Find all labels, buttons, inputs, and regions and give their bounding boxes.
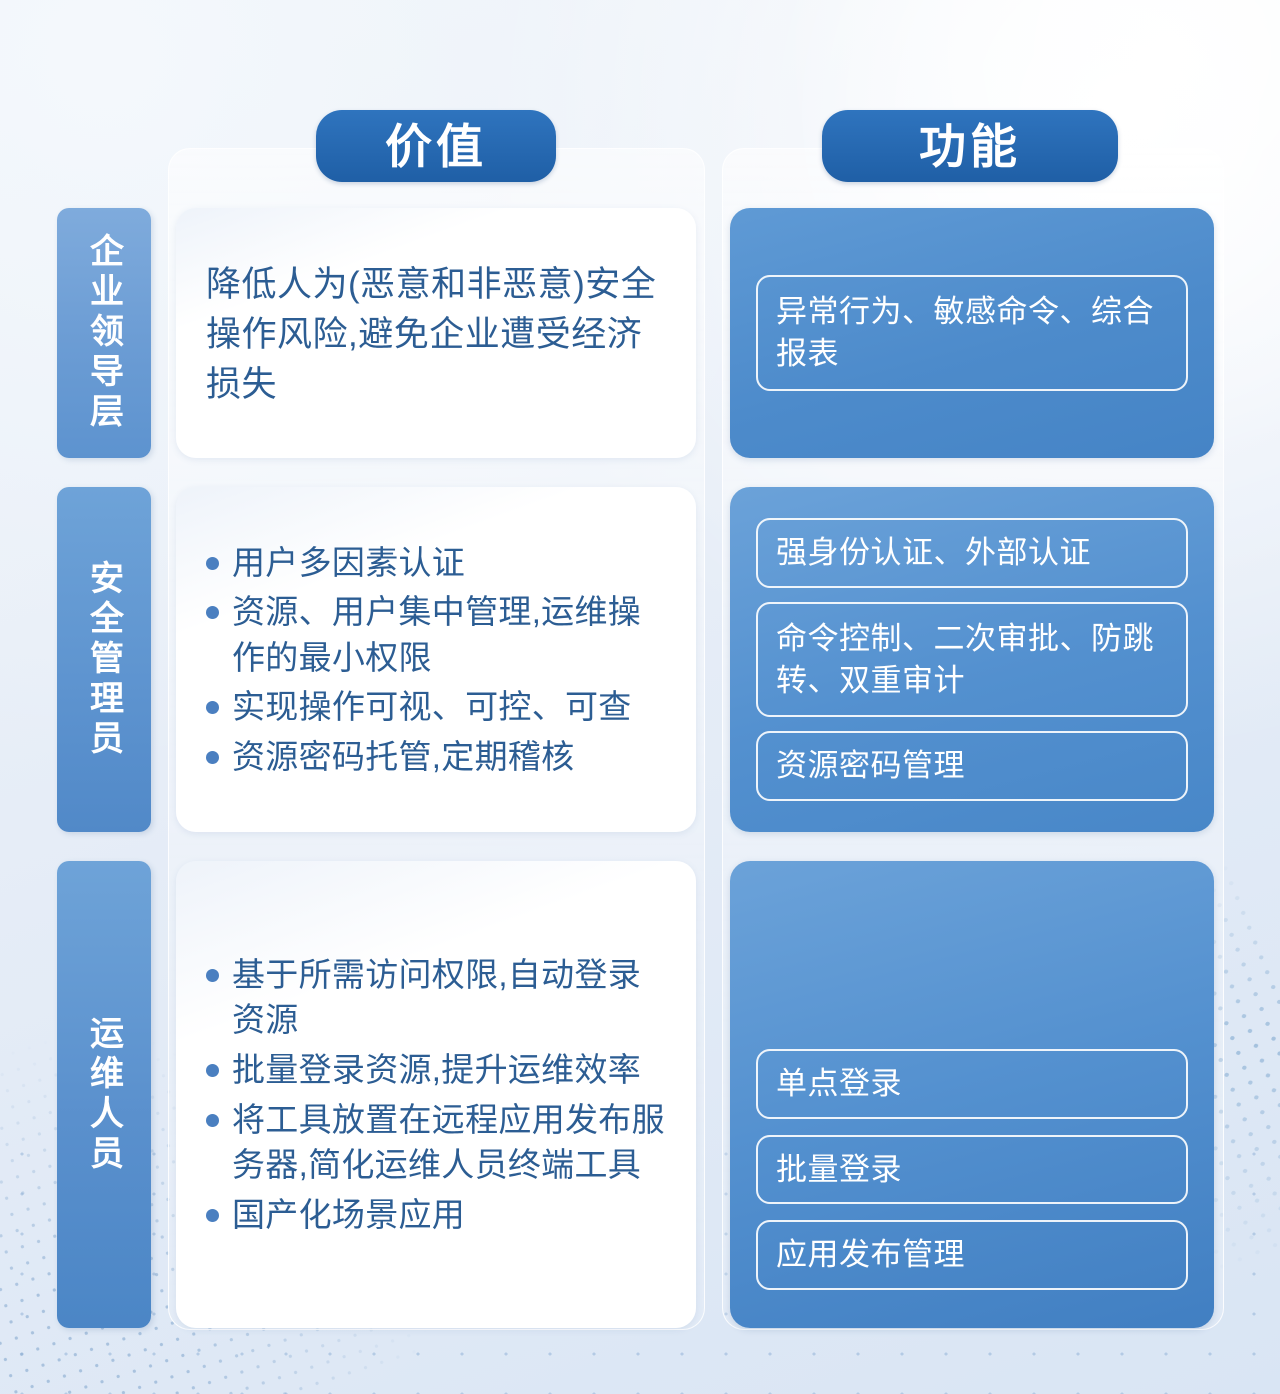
bullet-dot-icon (206, 1209, 219, 1222)
bullet-dot-icon (206, 1114, 219, 1127)
function-pill: 资源密码管理 (756, 731, 1188, 801)
list-item: 实现操作可视、可控、可查 (202, 684, 670, 730)
bullet-dot-icon (206, 701, 219, 714)
bullet-dot-icon (206, 751, 219, 764)
function-pill: 批量登录 (756, 1135, 1188, 1205)
list-item: 资源密码托管,定期稽核 (202, 734, 670, 780)
bullet-dot-icon (206, 557, 219, 570)
function-column-header-badge: 功能 (822, 110, 1118, 182)
value-column-header-badge: 价值 (316, 110, 556, 182)
list-item: 资源、用户集中管理,运维操作的最小权限 (202, 589, 670, 680)
value-card-row-3: 基于所需访问权限,自动登录资源 批量登录资源,提升运维效率 将工具放置在远程应用… (176, 861, 696, 1328)
function-pill: 命令控制、二次审批、防跳转、双重审计 (756, 602, 1188, 717)
list-item-label: 资源密码托管,定期稽核 (232, 738, 574, 775)
value-bullet-list: 用户多因素认证 资源、用户集中管理,运维操作的最小权限 实现操作可视、可控、可查… (202, 540, 670, 784)
value-card-row-2: 用户多因素认证 资源、用户集中管理,运维操作的最小权限 实现操作可视、可控、可查… (176, 487, 696, 832)
bullet-dot-icon (206, 969, 219, 982)
list-item-label: 批量登录资源,提升运维效率 (232, 1051, 641, 1088)
function-card-row-2: 强身份认证、外部认证 命令控制、二次审批、防跳转、双重审计 资源密码管理 (730, 487, 1214, 832)
value-card-row-1: 降低人为(恶意和非恶意)安全操作风险,避免企业遭受经济损失 (176, 208, 696, 458)
function-card-row-3: 单点登录 批量登录 应用发布管理 (730, 861, 1214, 1328)
value-paragraph: 降低人为(恶意和非恶意)安全操作风险,避免企业遭受经济损失 (202, 260, 670, 409)
list-item: 用户多因素认证 (202, 540, 670, 586)
list-item: 将工具放置在远程应用发布服务器,简化运维人员终端工具 (202, 1097, 670, 1188)
list-item-label: 资源、用户集中管理,运维操作的最小权限 (232, 593, 641, 676)
list-item-label: 实现操作可视、可控、可查 (232, 688, 632, 725)
bullet-dot-icon (206, 606, 219, 619)
bullet-dot-icon (206, 1064, 219, 1077)
list-item-label: 国产化场景应用 (232, 1196, 465, 1233)
function-pill: 应用发布管理 (756, 1220, 1188, 1290)
function-pill: 异常行为、敏感命令、综合报表 (756, 275, 1188, 390)
list-item: 国产化场景应用 (202, 1192, 670, 1238)
function-pill: 强身份认证、外部认证 (756, 518, 1188, 588)
value-bullet-list: 基于所需访问权限,自动登录资源 批量登录资源,提升运维效率 将工具放置在远程应用… (202, 952, 670, 1241)
role-tab-operations-personnel: 运维人员 (57, 861, 151, 1328)
function-card-row-1: 异常行为、敏感命令、综合报表 (730, 208, 1214, 458)
role-tab-security-administrator: 安全管理员 (57, 487, 151, 832)
list-item-label: 基于所需访问权限,自动登录资源 (232, 956, 641, 1039)
list-item-label: 用户多因素认证 (232, 544, 465, 581)
list-item-label: 将工具放置在远程应用发布服务器,简化运维人员终端工具 (232, 1101, 665, 1184)
list-item: 批量登录资源,提升运维效率 (202, 1047, 670, 1093)
role-tab-enterprise-leadership: 企业领导层 (57, 208, 151, 458)
list-item: 基于所需访问权限,自动登录资源 (202, 952, 670, 1043)
function-pill: 单点登录 (756, 1049, 1188, 1119)
